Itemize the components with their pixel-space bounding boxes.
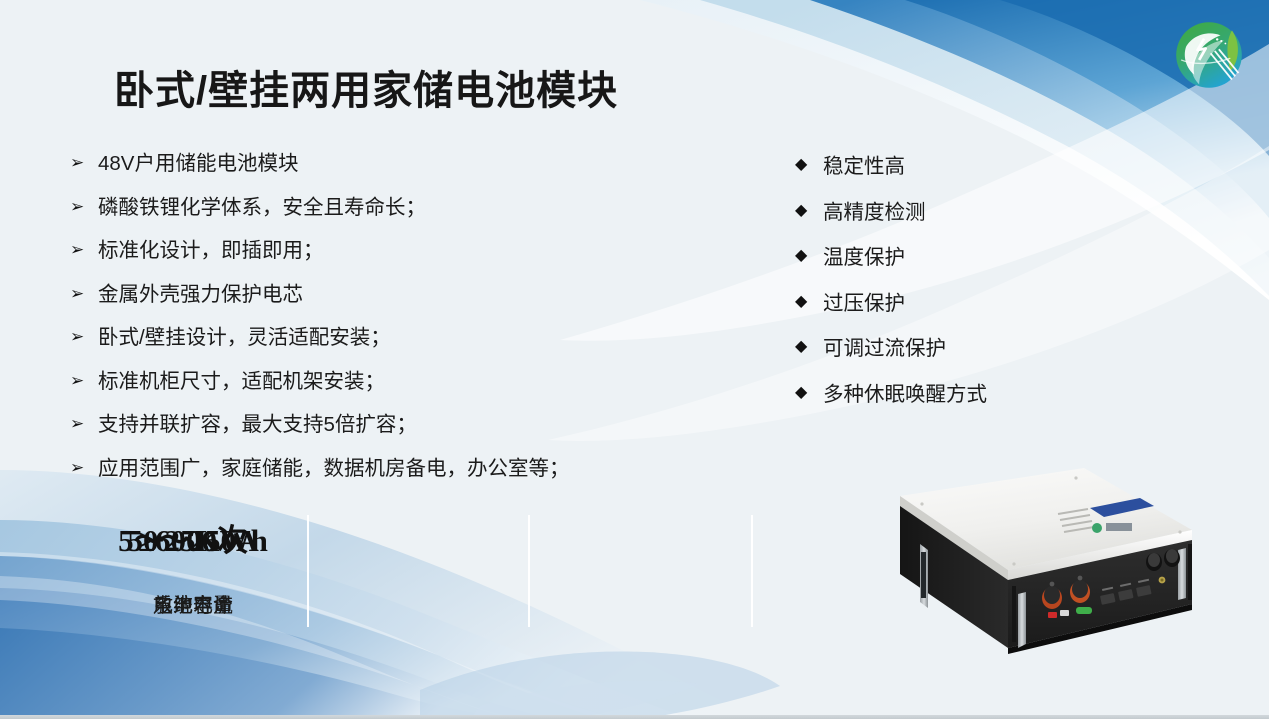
spec-label: 电池寿命	[84, 589, 302, 618]
list-item: ➢ 标准机柜尺寸，适配机架安装；	[70, 370, 710, 394]
arrow-bullet-icon: ➢	[70, 152, 98, 173]
spec-divider	[307, 515, 309, 627]
list-item-label: 标准机柜尺寸，适配机架安装；	[98, 370, 710, 394]
arrow-bullet-icon: ➢	[70, 283, 98, 304]
list-item-label: 金属外壳强力保护电芯	[98, 283, 710, 307]
diamond-bullet-icon: ◆	[795, 383, 823, 403]
list-item-label: 磷酸铁锂化学体系，安全且寿命长；	[98, 196, 710, 220]
battery-module-illustration	[862, 452, 1212, 667]
arrow-bullet-icon: ➢	[70, 413, 98, 434]
arrow-bullet-icon: ➢	[70, 457, 98, 478]
list-item-label: 48V户用储能电池模块	[98, 152, 710, 176]
list-item: ◆ 温度保护	[795, 246, 1095, 270]
list-item-label: 卧式/壁挂设计，灵活适配安装；	[98, 326, 710, 350]
arrow-bullet-icon: ➢	[70, 239, 98, 260]
list-item-label: 过压保护	[823, 292, 1095, 316]
diamond-bullet-icon: ◆	[795, 292, 823, 312]
list-item: ➢ 48V户用储能电池模块	[70, 152, 710, 176]
diamond-bullet-icon: ◆	[795, 201, 823, 221]
spec-divider	[528, 515, 530, 627]
list-item: ◆ 可调过流保护	[795, 337, 1095, 361]
list-item: ➢ 应用范围广，家庭储能，数据机房备电，办公室等；	[70, 457, 710, 481]
spec-value: ≥6000次	[84, 515, 302, 560]
list-item: ◆ 高精度检测	[795, 201, 1095, 225]
feature-list-left: ➢ 48V户用储能电池模块 ➢ 磷酸铁锂化学体系，安全且寿命长； ➢ 标准化设计…	[70, 152, 710, 501]
spec-item-cycle-life: ≥6000次 电池寿命	[84, 515, 302, 618]
spec-strip: 5～25KWh 系统容量 50～250A 放电电流 ≥6000次 电池寿命	[84, 515, 764, 630]
product-image	[862, 452, 1212, 667]
list-item: ◆ 过压保护	[795, 292, 1095, 316]
feature-list-right: ◆ 稳定性高 ◆ 高精度检测 ◆ 温度保护 ◆ 过压保护 ◆ 可调过流保护 ◆ …	[795, 155, 1095, 428]
list-item: ◆ 稳定性高	[795, 155, 1095, 179]
company-logo	[1168, 14, 1250, 96]
arrow-bullet-icon: ➢	[70, 326, 98, 347]
list-item: ◆ 多种休眠唤醒方式	[795, 383, 1095, 407]
list-item-label: 应用范围广，家庭储能，数据机房备电，办公室等；	[98, 457, 710, 481]
arrow-bullet-icon: ➢	[70, 370, 98, 391]
list-item-label: 稳定性高	[823, 155, 1095, 179]
diamond-bullet-icon: ◆	[795, 337, 823, 357]
list-item: ➢ 金属外壳强力保护电芯	[70, 283, 710, 307]
diamond-bullet-icon: ◆	[795, 246, 823, 266]
list-item: ➢ 磷酸铁锂化学体系，安全且寿命长；	[70, 196, 710, 220]
list-item-label: 多种休眠唤醒方式	[823, 383, 1095, 407]
slide-root: 卧式/壁挂两用家储电池模块 ➢ 48V户用储能电池模块 ➢ 磷酸铁锂化学体系，安…	[0, 0, 1269, 719]
list-item: ➢ 标准化设计，即插即用；	[70, 239, 710, 263]
arrow-bullet-icon: ➢	[70, 196, 98, 217]
list-item: ➢ 卧式/壁挂设计，灵活适配安装；	[70, 326, 710, 350]
diamond-bullet-icon: ◆	[795, 155, 823, 175]
page-title: 卧式/壁挂两用家储电池模块	[114, 58, 618, 116]
list-item-label: 支持并联扩容，最大支持5倍扩容；	[98, 413, 710, 437]
logo-icon	[1168, 14, 1250, 96]
list-item-label: 高精度检测	[823, 201, 1095, 225]
list-item: ➢ 支持并联扩容，最大支持5倍扩容；	[70, 413, 710, 437]
list-item-label: 可调过流保护	[823, 337, 1095, 361]
bottom-rule	[0, 715, 1269, 719]
list-item-label: 温度保护	[823, 246, 1095, 270]
spec-divider	[751, 515, 753, 627]
list-item-label: 标准化设计，即插即用；	[98, 239, 710, 263]
